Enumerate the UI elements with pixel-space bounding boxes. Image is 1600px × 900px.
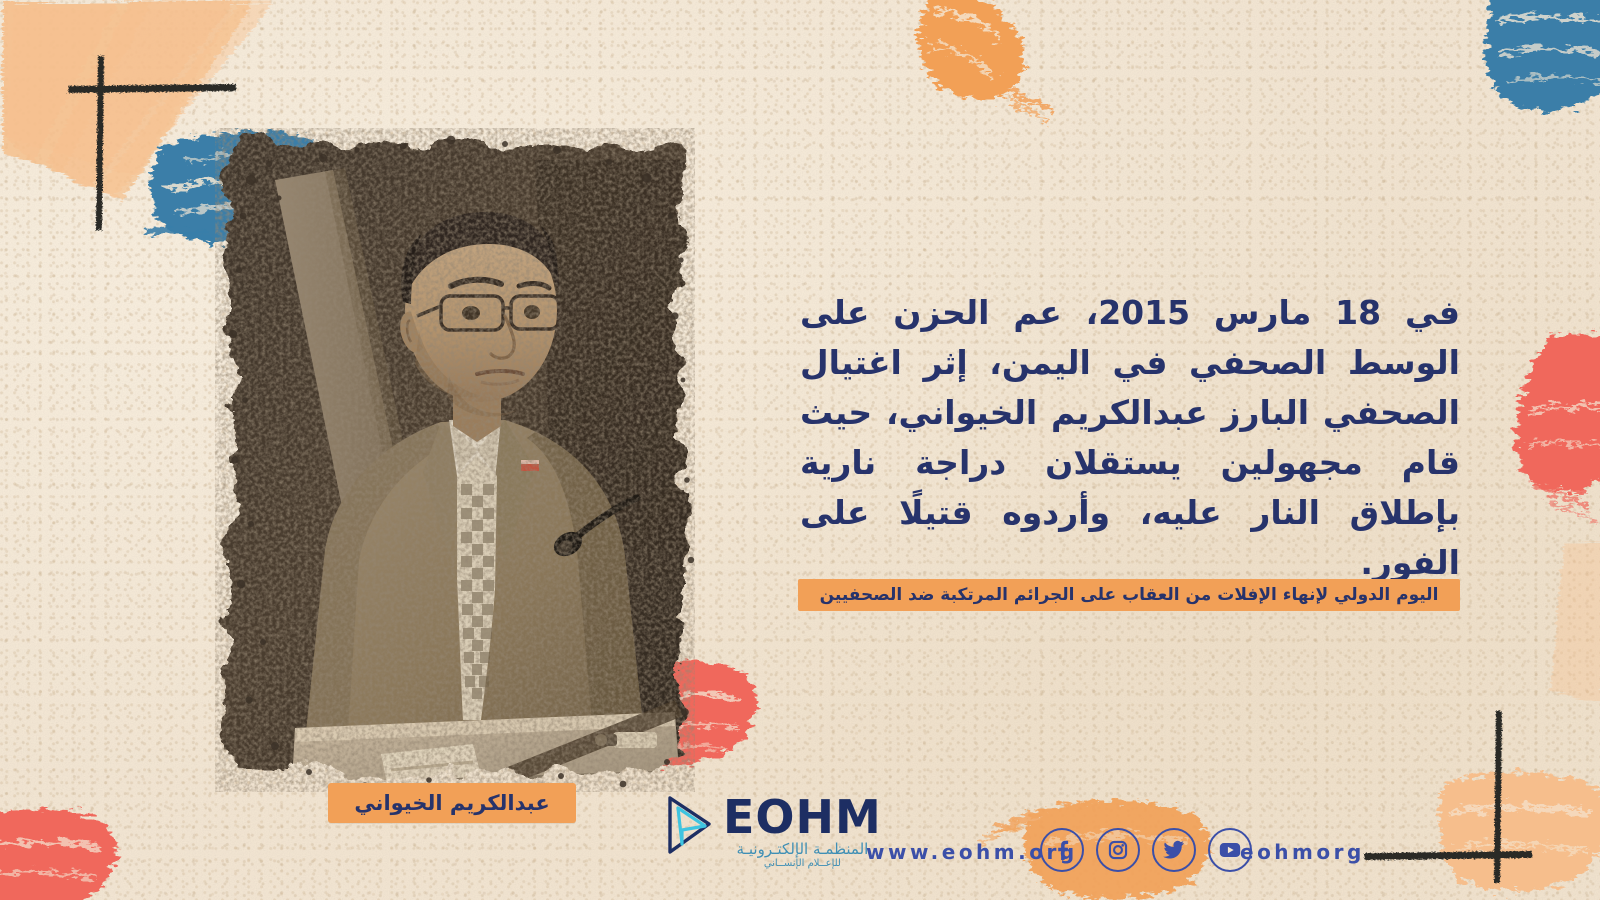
day-banner-text: اليوم الدولي لإنهاء الإفلات من العقاب عل… <box>820 585 1439 605</box>
brand-subtitle-line1: المنظمـة الإلكتـرونيـة <box>736 841 868 858</box>
social-handle[interactable]: eohmorg <box>1240 840 1365 864</box>
brand-logo[interactable]: EOHM المنظمـة الإلكتـرونيـة للإعــلام ال… <box>665 794 882 870</box>
main-paragraph: في 18 مارس 2015، عم الحزن على الوسط الصح… <box>800 288 1460 588</box>
day-banner: اليوم الدولي لإنهاء الإفلات من العقاب عل… <box>798 579 1460 611</box>
brand-name: EOHM <box>723 794 882 840</box>
triangle-play-logo-icon <box>665 794 713 856</box>
facebook-icon[interactable] <box>1040 828 1084 872</box>
social-links-row <box>1040 828 1252 872</box>
instagram-icon[interactable] <box>1096 828 1140 872</box>
poster-canvas: عبدالكريم الخيواني في 18 مارس 2015، عم ا… <box>0 0 1600 900</box>
brand-subtitle-line2: للإعــلام الإنســاني <box>764 858 841 870</box>
brand-wordmark: EOHM المنظمـة الإلكتـرونيـة للإعــلام ال… <box>723 794 882 870</box>
portrait-photo <box>205 120 705 800</box>
footer-bar: EOHM المنظمـة الإلكتـرونيـة للإعــلام ال… <box>0 792 1600 882</box>
twitter-icon[interactable] <box>1152 828 1196 872</box>
